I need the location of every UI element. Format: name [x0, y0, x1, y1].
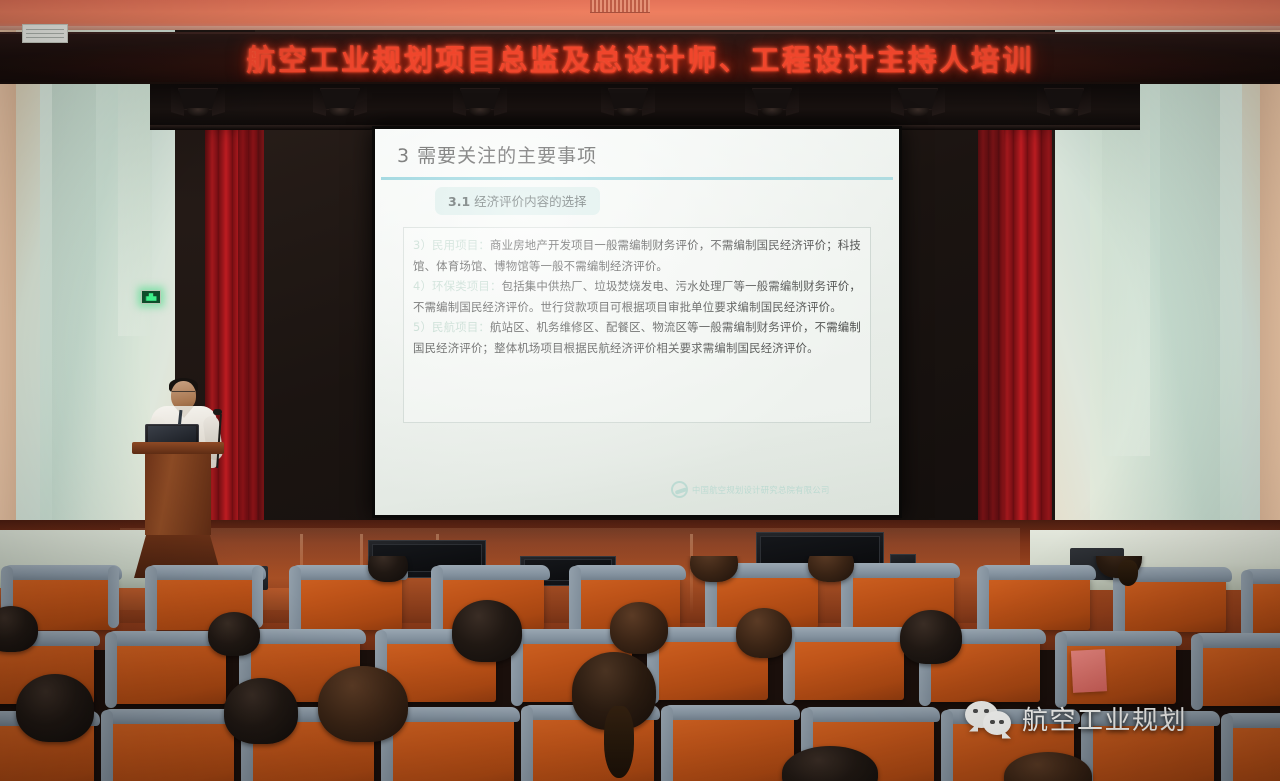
presenter-laptop-screen — [148, 426, 196, 443]
stage-light-lens — [469, 108, 491, 116]
stage-light — [460, 88, 500, 124]
emergency-exit-sign — [141, 290, 161, 304]
microphone-head — [213, 409, 222, 415]
stage-light-lens — [761, 108, 783, 116]
auditorium-seat — [108, 716, 234, 781]
slide-paragraph: 3）民用项目：商业房地产开发项目一般需编制财务评价，不需编制国民经济评价；科技馆… — [413, 235, 861, 276]
right-wall-shadow — [1160, 36, 1220, 556]
slide-body: 3）民用项目：商业房地产开发项目一般需编制财务评价，不需编制国民经济评价；科技馆… — [403, 227, 871, 423]
audience-head — [452, 600, 522, 662]
audience-ponytail — [1118, 560, 1138, 586]
stage-light-housing — [178, 88, 218, 110]
stage-light — [608, 88, 648, 124]
stage-light — [898, 88, 938, 124]
slide-paragraph-tag: 5）民航项目： — [413, 320, 490, 334]
stage-light-housing — [898, 88, 938, 110]
audience-head — [208, 612, 260, 656]
auditorium-seat — [984, 572, 1090, 630]
slide-subtitle: 3.1经济评价内容的选择 — [435, 187, 600, 215]
stage-curtain-right — [1000, 112, 1052, 542]
stage-light-housing — [320, 88, 360, 110]
audience-head — [368, 556, 408, 582]
exit-running-man-icon — [146, 293, 157, 301]
slide-paragraph-tag: 4）环保类项目： — [413, 279, 502, 293]
audience-head — [808, 556, 854, 582]
stage-light-housing — [460, 88, 500, 110]
left-wall-shadow — [52, 36, 96, 556]
wechat-dot — [990, 720, 995, 725]
stage-light — [752, 88, 792, 124]
auditorium-seat — [1120, 574, 1226, 632]
stage-curtain-right-inner — [978, 118, 1004, 538]
audience-ponytail — [604, 706, 634, 778]
auditorium-seat — [388, 714, 514, 781]
wechat-icon — [965, 701, 1013, 737]
stage-light — [1044, 88, 1084, 124]
wechat-dot — [999, 720, 1004, 725]
presenter-glasses — [172, 391, 195, 396]
wechat-watermark: 航空工业规划 — [965, 700, 1187, 737]
podium-nameplate-text — [26, 29, 64, 38]
auditorium-seat — [668, 712, 794, 781]
stage-light — [178, 88, 218, 124]
auditorium-seat — [1228, 720, 1280, 781]
stage-light-lens — [907, 108, 929, 116]
audience-head — [900, 610, 962, 664]
event-banner: 航空工业规划项目总监及总设计师、工程设计主持人培训 — [0, 32, 1280, 84]
slide-subtitle-number: 3.1 — [448, 194, 470, 209]
auditorium-seat — [790, 634, 904, 700]
audience-head — [16, 674, 94, 742]
slide-paragraph: 5）民航项目：航站区、机务维修区、配餐区、物流区等一般需编制财务评价，不需编制国… — [413, 317, 861, 358]
slide-subtitle-text: 经济评价内容的选择 — [474, 194, 587, 209]
auditorium-seat — [112, 638, 226, 704]
audience-head — [318, 666, 408, 742]
auditorium-photo: 航空工业规划项目总监及总设计师、工程设计主持人培训 3 需要关注的主要事项 3.… — [0, 0, 1280, 781]
banner-title: 航空工业规划项目总监及总设计师、工程设计主持人培训 — [246, 37, 1034, 79]
company-logo-mark-icon — [671, 481, 688, 498]
ceiling-air-vent — [590, 0, 650, 13]
podium-top — [132, 442, 224, 454]
audience-seating — [0, 556, 1280, 781]
stage-light-housing — [608, 88, 648, 110]
stage-light-housing — [752, 88, 792, 110]
auditorium-seat — [1248, 576, 1280, 634]
slide-company-logo: 中国航空规划设计研究总院有限公司 — [671, 481, 830, 498]
wechat-bubble-small — [983, 711, 1011, 735]
slide-title-rule — [381, 177, 893, 180]
company-logo-text: 中国航空规划设计研究总院有限公司 — [692, 484, 830, 496]
auditorium-seat — [1198, 640, 1280, 706]
stage-light-lens — [187, 108, 209, 116]
left-wall-trim — [0, 30, 16, 590]
audience-head — [224, 678, 298, 744]
projection-screen: 3 需要关注的主要事项 3.1经济评价内容的选择 3）民用项目：商业房地产开发项… — [375, 129, 899, 515]
stage-light-lens — [617, 108, 639, 116]
slide-paragraph: 4）环保类项目：包括集中供热厂、垃圾焚烧发电、污水处理厂等一般需编制财务评价，不… — [413, 276, 861, 317]
audience-head — [736, 608, 792, 658]
stage-light-lens — [1053, 108, 1075, 116]
stage-light-lens — [329, 108, 351, 116]
audience-head — [610, 602, 668, 654]
stage-curtain-left-inner — [238, 118, 264, 538]
right-wall-trim — [1260, 30, 1280, 590]
red-document-folder — [1071, 649, 1107, 693]
stage-light — [320, 88, 360, 124]
wechat-dot — [984, 709, 989, 714]
podium-body — [145, 453, 211, 535]
wechat-dot — [973, 709, 978, 714]
stage-light-housing — [1044, 88, 1084, 110]
slide-paragraph-tag: 3）民用项目： — [413, 238, 490, 252]
seat-armrest — [108, 566, 119, 628]
slide-title: 3 需要关注的主要事项 — [397, 141, 597, 168]
watermark-label: 航空工业规划 — [1022, 700, 1187, 737]
